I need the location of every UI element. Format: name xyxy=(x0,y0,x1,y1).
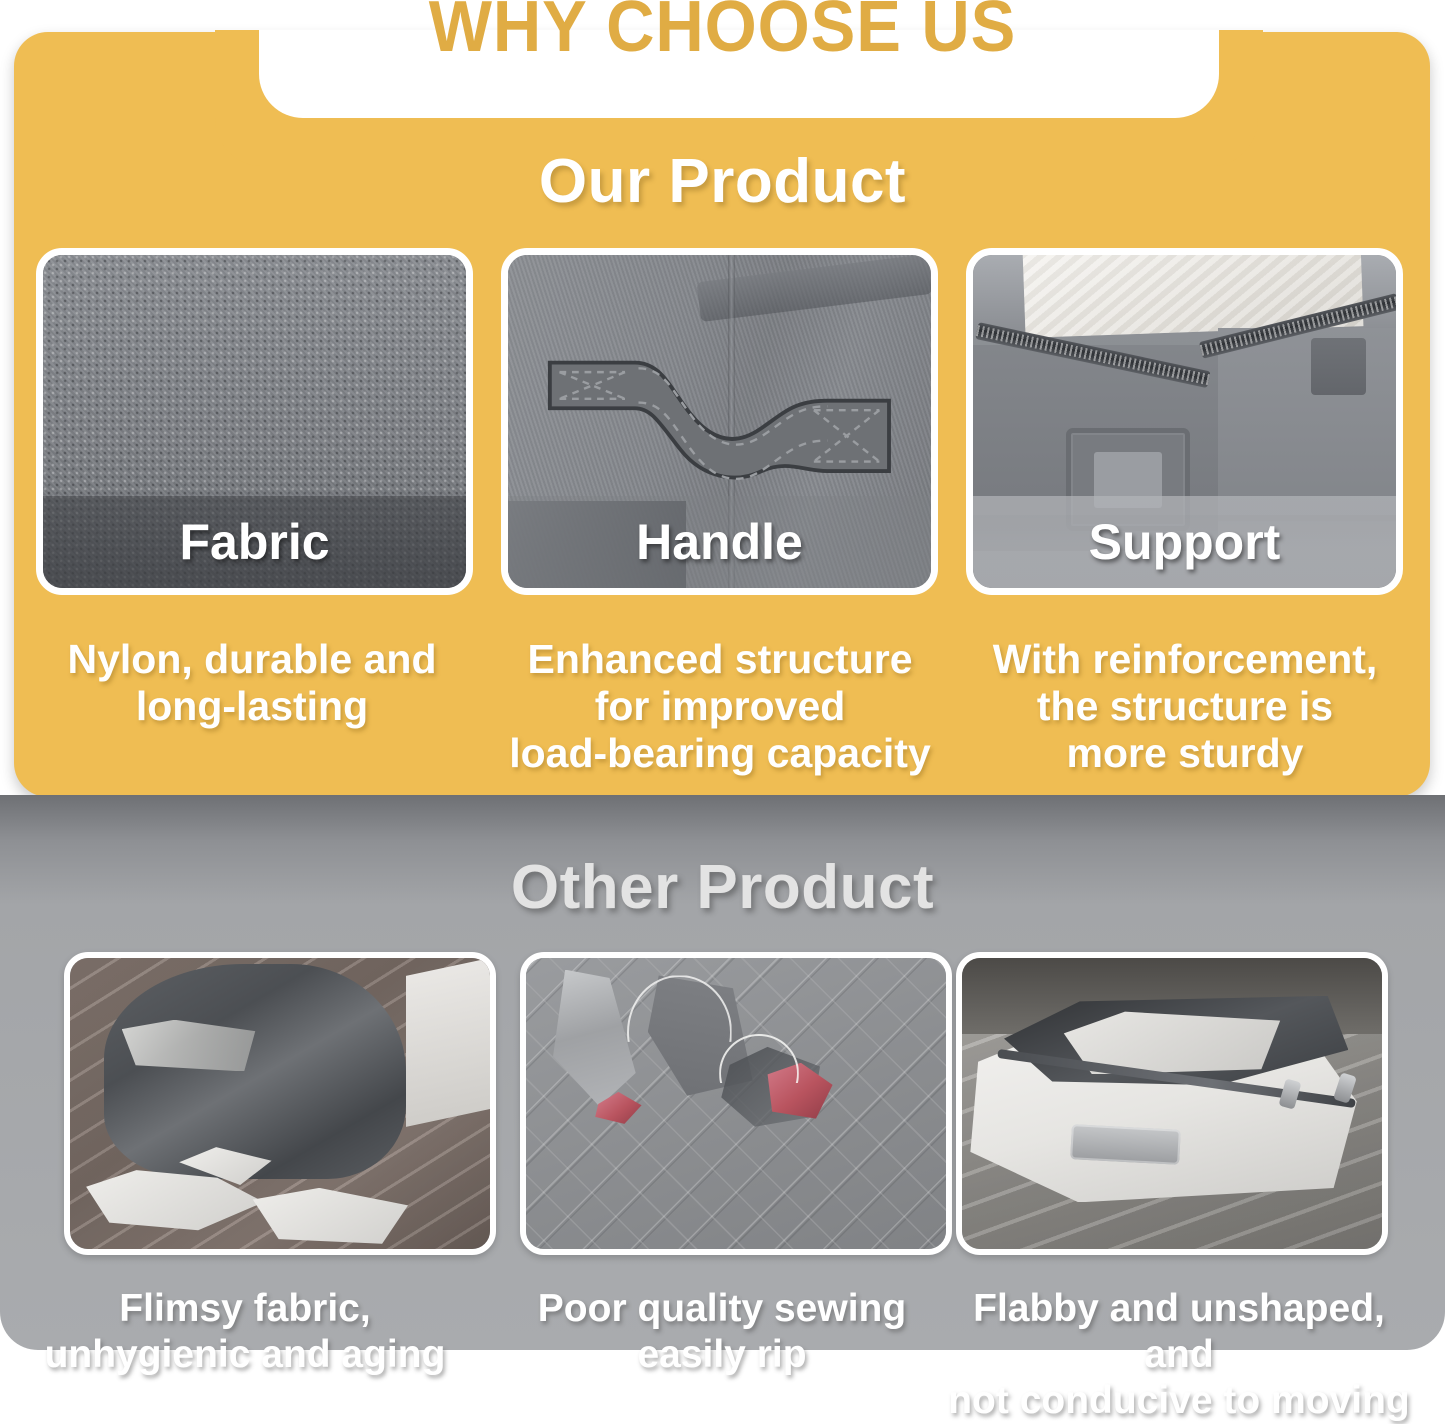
our-product-card-row: Fabric xyxy=(0,248,1445,598)
caption-line: not conducive to moving xyxy=(944,1378,1414,1424)
caption-fabric: Nylon, durable and long-lasting xyxy=(22,636,482,730)
caption-line: unhygienic and aging xyxy=(10,1332,480,1378)
feature-card-fabric[interactable]: Fabric xyxy=(36,248,473,595)
caption-support: With reinforcement, the structure is mor… xyxy=(955,636,1415,777)
other-product-photo-row xyxy=(0,952,1445,1257)
caption-line: the structure is xyxy=(955,683,1415,730)
other-product-heading: Other Product xyxy=(0,852,1445,923)
caption-line: Enhanced structure xyxy=(490,636,950,683)
caption-line: Flimsy fabric, xyxy=(10,1286,480,1332)
caption-flimsy-fabric: Flimsy fabric, unhygienic and aging xyxy=(10,1286,480,1378)
caption-line: for improved xyxy=(490,683,950,730)
box-side-handle xyxy=(1311,338,1366,395)
caption-line: Nylon, durable and xyxy=(22,636,482,683)
other-photo-ripped-seams[interactable] xyxy=(520,952,952,1255)
page-title: WHY CHOOSE US xyxy=(51,0,1395,62)
caption-line: load-bearing capacity xyxy=(490,730,950,777)
feature-card-label: Fabric xyxy=(43,496,466,588)
infographic-root: WHY CHOOSE US Our Product Fabric xyxy=(0,0,1445,1373)
notch-fillet-left xyxy=(215,118,261,166)
notch-fillet-right xyxy=(1212,118,1258,166)
caption-handle: Enhanced structure for improved load-bea… xyxy=(490,636,950,777)
caption-line: more sturdy xyxy=(955,730,1415,777)
caption-poor-sewing: Poor quality sewing easily rip xyxy=(487,1286,957,1378)
caption-line: long-lasting xyxy=(22,683,482,730)
feature-card-support[interactable]: Support xyxy=(966,248,1403,595)
feature-card-label: Support xyxy=(973,496,1396,588)
caption-line: easily rip xyxy=(487,1332,957,1378)
other-photo-flabby-bag[interactable] xyxy=(956,952,1388,1255)
bag-handle-strap xyxy=(1070,1124,1181,1165)
caption-flabby-unshaped: Flabby and unshaped, and not conducive t… xyxy=(944,1286,1414,1424)
caption-line: Poor quality sewing xyxy=(487,1286,957,1332)
feature-card-handle[interactable]: Handle xyxy=(501,248,938,595)
caption-line: With reinforcement, xyxy=(955,636,1415,683)
leather-handle-strap xyxy=(546,355,893,488)
other-photo-torn-bag[interactable] xyxy=(64,952,496,1255)
caption-line: Flabby and unshaped, and xyxy=(944,1286,1414,1378)
feature-card-label: Handle xyxy=(508,496,931,588)
